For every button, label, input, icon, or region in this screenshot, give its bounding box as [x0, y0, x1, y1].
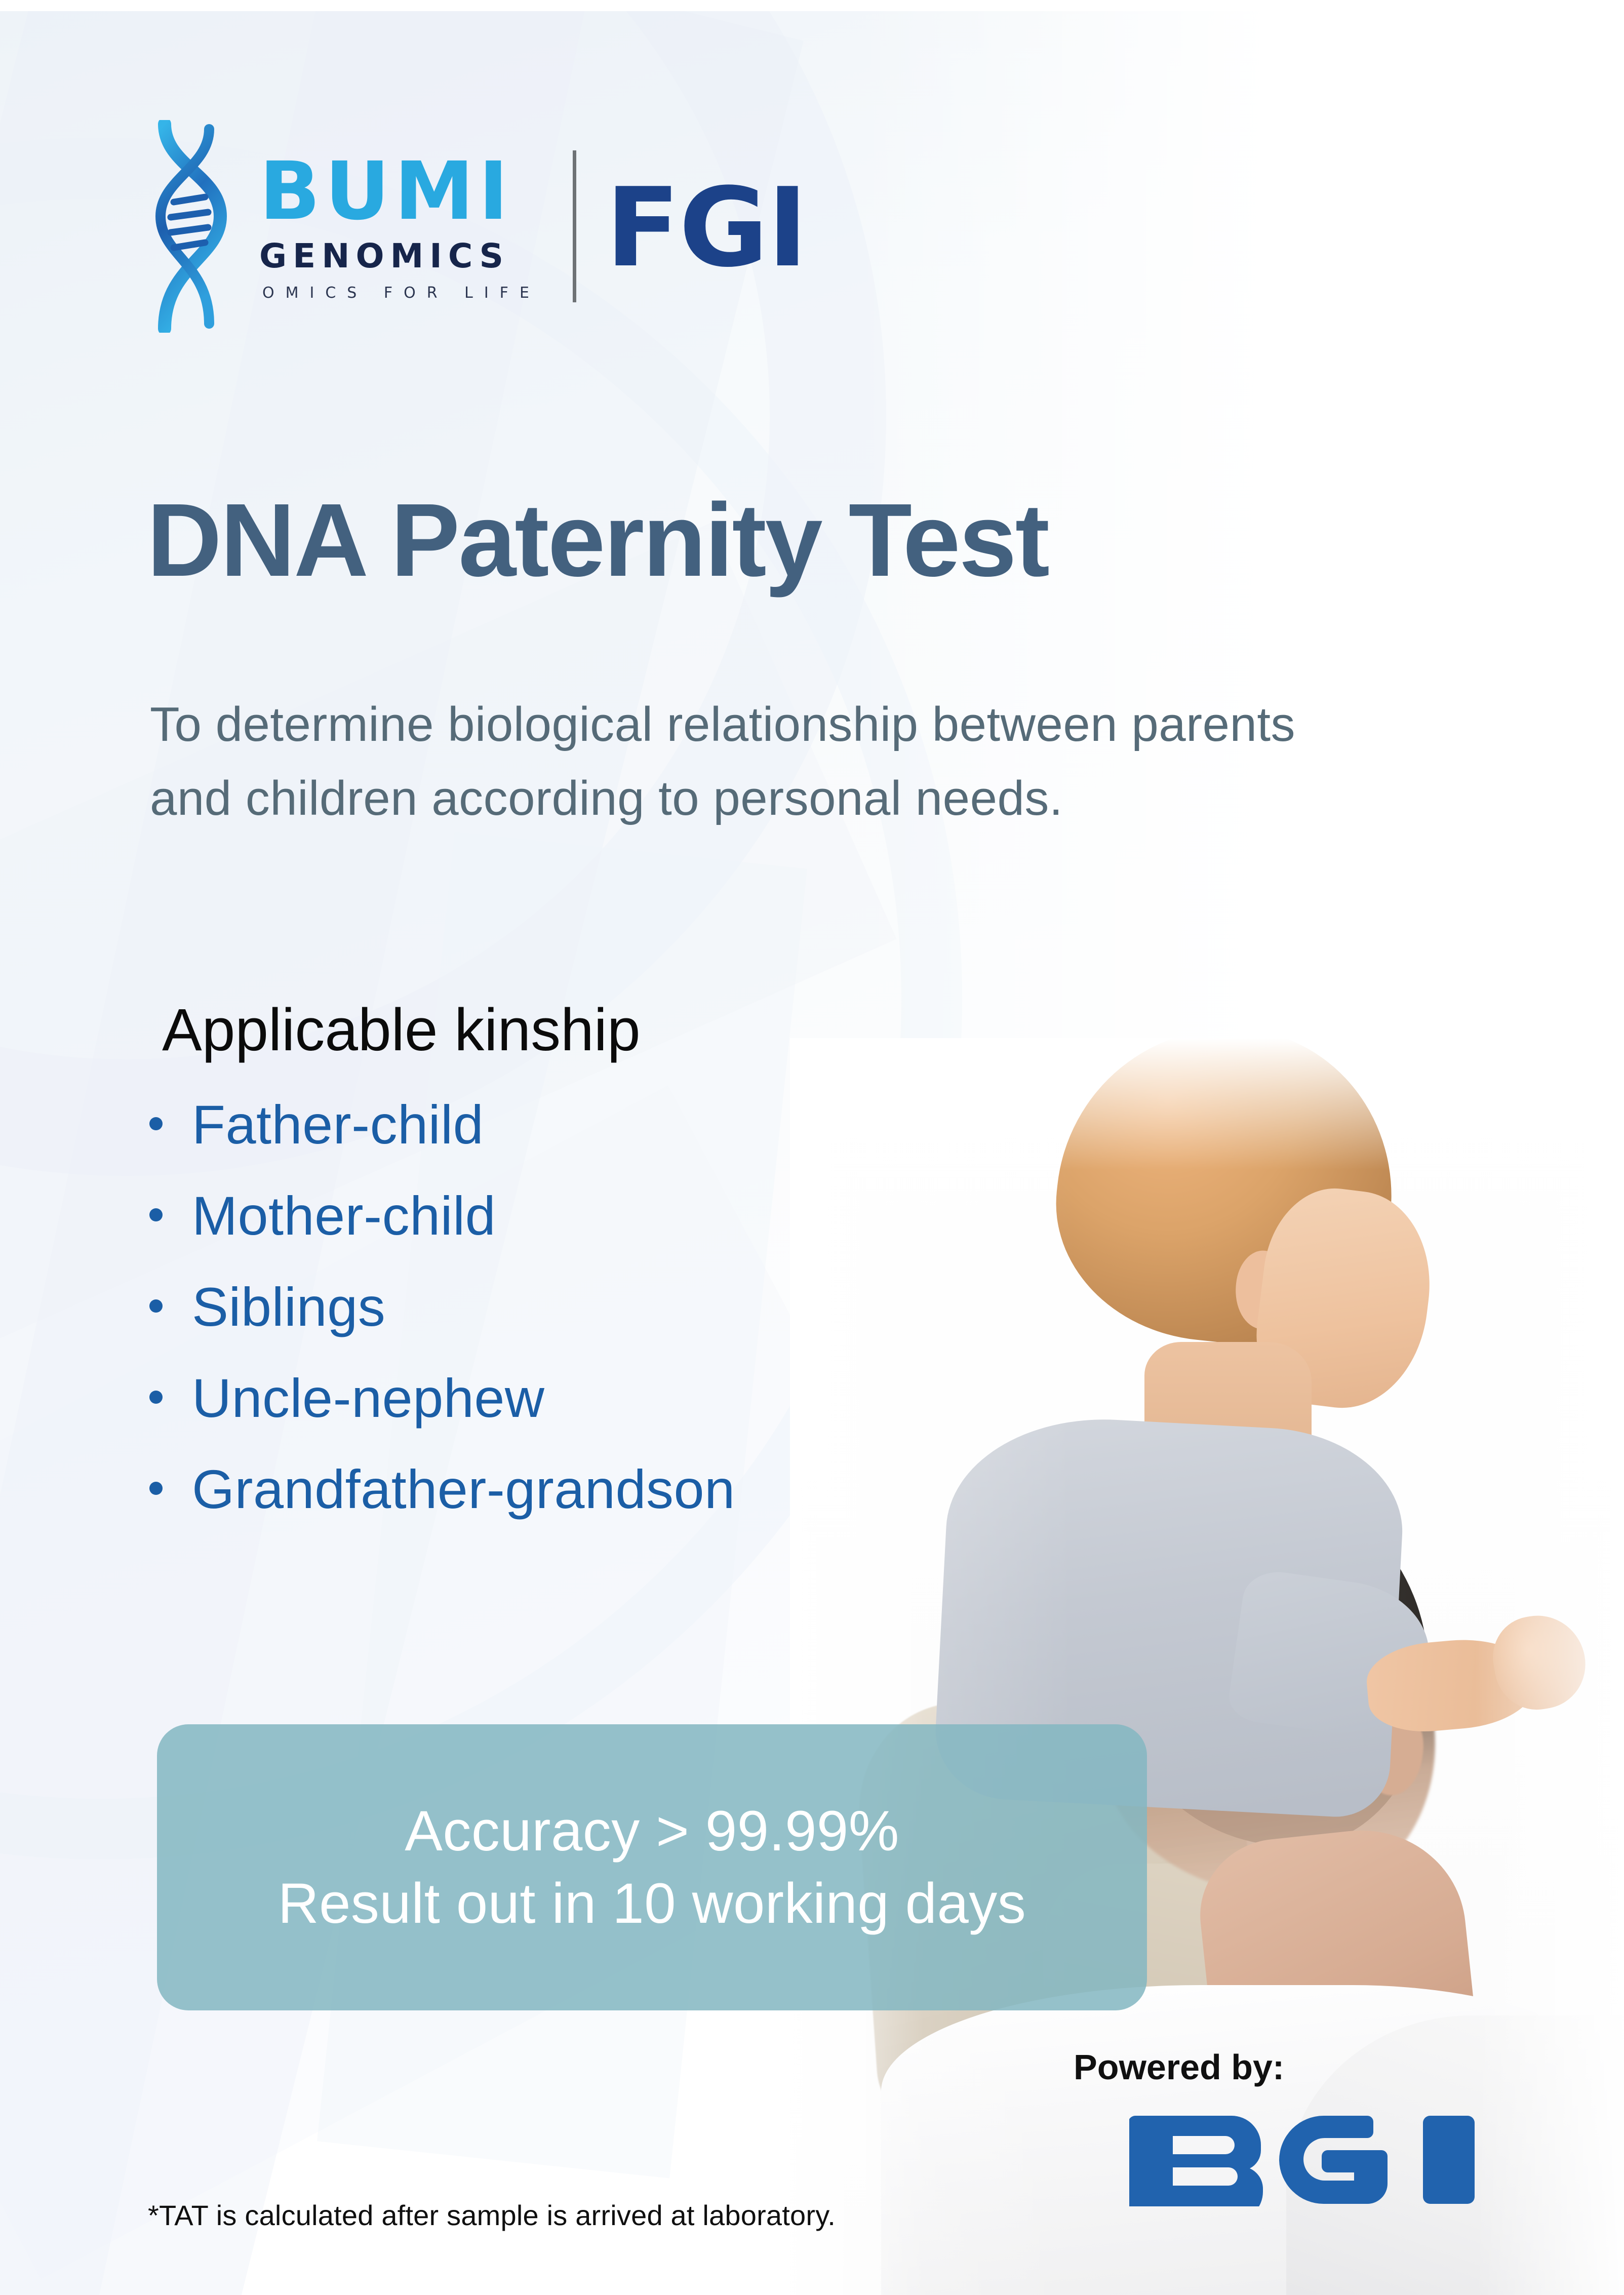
accuracy-callout-box: Accuracy > 99.99% Result out in 10 worki…: [157, 1724, 1147, 2010]
bumi-wordmark: BUMI GENOMICS OMICS FOR LIFE: [259, 151, 540, 302]
list-item-label: Father-child: [192, 1097, 484, 1152]
page-subtitle: To determine biological relationship bet…: [150, 688, 1350, 836]
list-item-label: Mother-child: [192, 1189, 496, 1243]
kinship-list: Father-child Mother-child Siblings Uncle…: [149, 1097, 735, 1553]
bullet-dot-icon: [149, 1208, 163, 1221]
bullet-dot-icon: [149, 1117, 163, 1130]
bgi-logo-icon: [1129, 2113, 1504, 2206]
list-item: Uncle-nephew: [149, 1371, 735, 1426]
logo-lockup: BUMI GENOMICS OMICS FOR LIFE FGI: [144, 120, 807, 333]
turnaround-text: Result out in 10 working days: [278, 1870, 1026, 1937]
kinship-section-title: Applicable kinship: [162, 1000, 641, 1060]
fgi-wordmark: FGI: [606, 173, 807, 282]
list-item: Mother-child: [149, 1189, 735, 1243]
list-item: Grandfather-grandson: [149, 1462, 735, 1517]
list-item-label: Grandfather-grandson: [192, 1462, 735, 1517]
powered-by-label: Powered by:: [1074, 2047, 1284, 2087]
list-item-label: Siblings: [192, 1280, 385, 1334]
bullet-dot-icon: [149, 1391, 163, 1404]
page-title: DNA Paternity Test: [147, 488, 1048, 592]
list-item-label: Uncle-nephew: [192, 1371, 544, 1426]
vertical-divider-icon: [573, 150, 576, 302]
list-item: Father-child: [149, 1097, 735, 1152]
footnote-text: *TAT is calculated after sample is arriv…: [148, 2199, 836, 2232]
bumi-subname: GENOMICS: [259, 240, 540, 273]
bumi-tagline: OMICS FOR LIFE: [262, 284, 540, 302]
poster-content: BUMI GENOMICS OMICS FOR LIFE FGI DNA Pat…: [0, 11, 1613, 2295]
dna-helix-icon: [144, 120, 248, 333]
bumi-name: BUMI: [259, 151, 540, 231]
bullet-dot-icon: [149, 1482, 163, 1495]
bullet-dot-icon: [149, 1299, 163, 1313]
accuracy-text: Accuracy > 99.99%: [405, 1798, 899, 1865]
list-item: Siblings: [149, 1280, 735, 1334]
poster-page: BUMI GENOMICS OMICS FOR LIFE FGI DNA Pat…: [0, 0, 1624, 2295]
bumi-name-text: BUMI: [259, 151, 513, 231]
